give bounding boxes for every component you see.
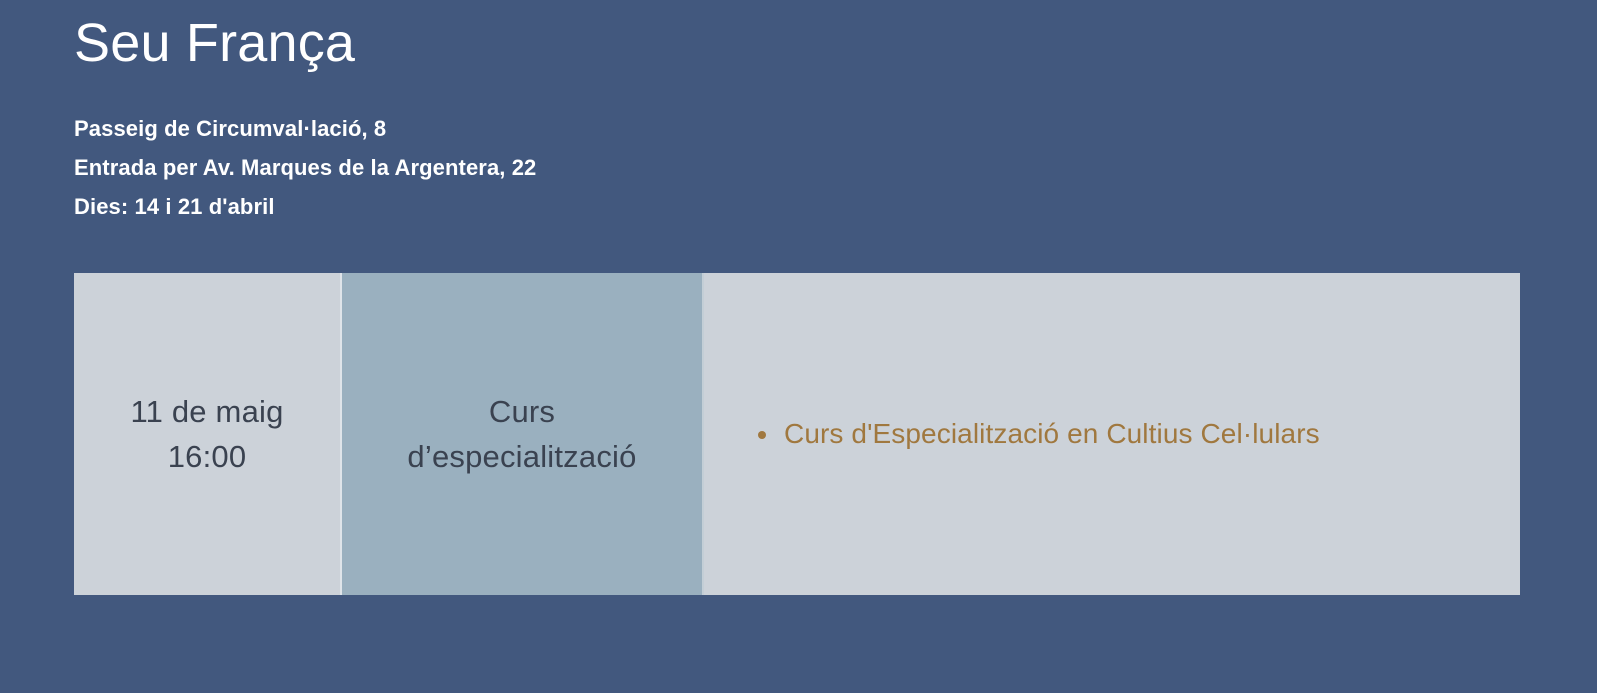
venue-detail-dates: Dies: 14 i 21 d'abril: [74, 187, 1524, 226]
schedule-date: 11 de maig: [130, 389, 283, 434]
category-line-2: d’especialització: [407, 434, 636, 479]
venue-detail-address: Passeig de Circumval·lació, 8: [74, 109, 1524, 148]
schedule-cell-courses: Curs d'Especialització en Cultius Cel·lu…: [704, 273, 1520, 595]
venue-details-list: Passeig de Circumval·lació, 8 Entrada pe…: [74, 109, 1524, 226]
page-title: Seu França: [74, 0, 1524, 70]
bullet-icon: [758, 431, 766, 439]
schedule-time: 16:00: [130, 434, 283, 479]
schedule-table: 11 de maig 16:00 Curs d’especialització …: [74, 273, 1520, 595]
category-text: Curs d’especialització: [407, 389, 636, 479]
course-list: Curs d'Especialització en Cultius Cel·lu…: [704, 414, 1320, 454]
schedule-cell-category: Curs d’especialització: [342, 273, 704, 595]
category-line-1: Curs: [407, 389, 636, 434]
course-title: Curs d'Especialització en Cultius Cel·lu…: [784, 418, 1320, 449]
venue-detail-entrance: Entrada per Av. Marques de la Argentera,…: [74, 148, 1524, 187]
list-item[interactable]: Curs d'Especialització en Cultius Cel·lu…: [758, 414, 1320, 454]
venue-info-page: Seu França Passeig de Circumval·lació, 8…: [0, 0, 1597, 693]
schedule-cell-datetime: 11 de maig 16:00: [74, 273, 342, 595]
venue-header: Seu França Passeig de Circumval·lació, 8…: [74, 0, 1524, 226]
datetime-text: 11 de maig 16:00: [130, 389, 283, 479]
